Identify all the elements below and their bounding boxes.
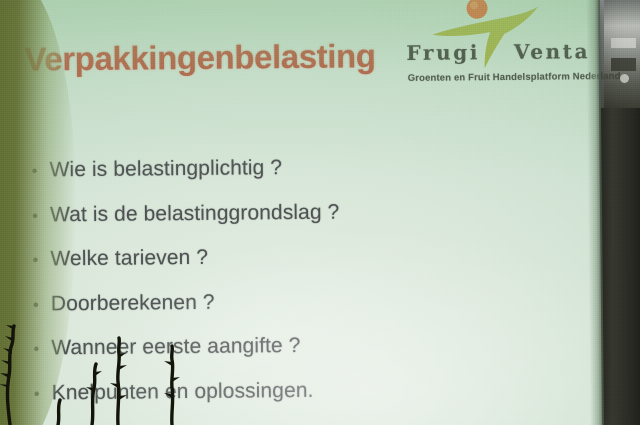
list-item-label: Doorberekenen ? [51, 290, 215, 316]
equipment-slot [611, 38, 636, 48]
list-item-label: Wie is belastingplichtig ? [49, 156, 282, 182]
logo-wordmark: FrugiVenta [406, 39, 602, 65]
list-item: • Wie is belastingplichtig ? [31, 154, 501, 203]
room-wall-panel [600, 108, 640, 425]
list-item: • Doorberekenen ? [33, 288, 503, 337]
equipment-knob-icon [620, 74, 629, 83]
logo-word-venta: Venta [514, 39, 590, 64]
list-item-label: Wanneer eerste aangifte ? [51, 334, 300, 360]
projection-screen: Verpakkingenbelasting • Wie is belasting… [0, 0, 602, 425]
list-item-label: Knelpunten en oplossingen. [52, 378, 314, 405]
bullet-dot-icon: • [34, 385, 52, 402]
logo-word-frugi: Frugi [406, 40, 480, 65]
bullet-dot-icon: • [32, 162, 50, 179]
list-item: • Wanneer eerste aangifte ? [33, 332, 503, 381]
list-item: • Welke tarieven ? [32, 243, 502, 292]
page-title: Verpakkingenbelasting [24, 37, 375, 78]
bullet-dot-icon: • [32, 207, 50, 224]
presentation-photo: Verpakkingenbelasting • Wie is belasting… [0, 0, 640, 425]
bullet-dot-icon: • [33, 340, 51, 357]
list-item-label: Welke tarieven ? [50, 246, 208, 272]
bullet-dot-icon: • [33, 296, 51, 313]
list-item: • Knelpunten en oplossingen. [34, 377, 504, 425]
frugi-venta-logo: FrugiVenta Groenten en Fruit Handelsplat… [400, 0, 601, 97]
list-item: • Wat is de belastinggrondslag ? [32, 199, 502, 248]
bullet-dot-icon: • [32, 251, 50, 268]
equipment-slot-secondary [611, 58, 636, 71]
logo-tagline: Groenten en Fruit Handelsplatform Nederl… [408, 71, 621, 84]
list-item-label: Wat is de belastinggrondslag ? [50, 200, 340, 227]
bullet-list: • Wie is belastingplichtig ? • Wat is de… [31, 154, 504, 425]
